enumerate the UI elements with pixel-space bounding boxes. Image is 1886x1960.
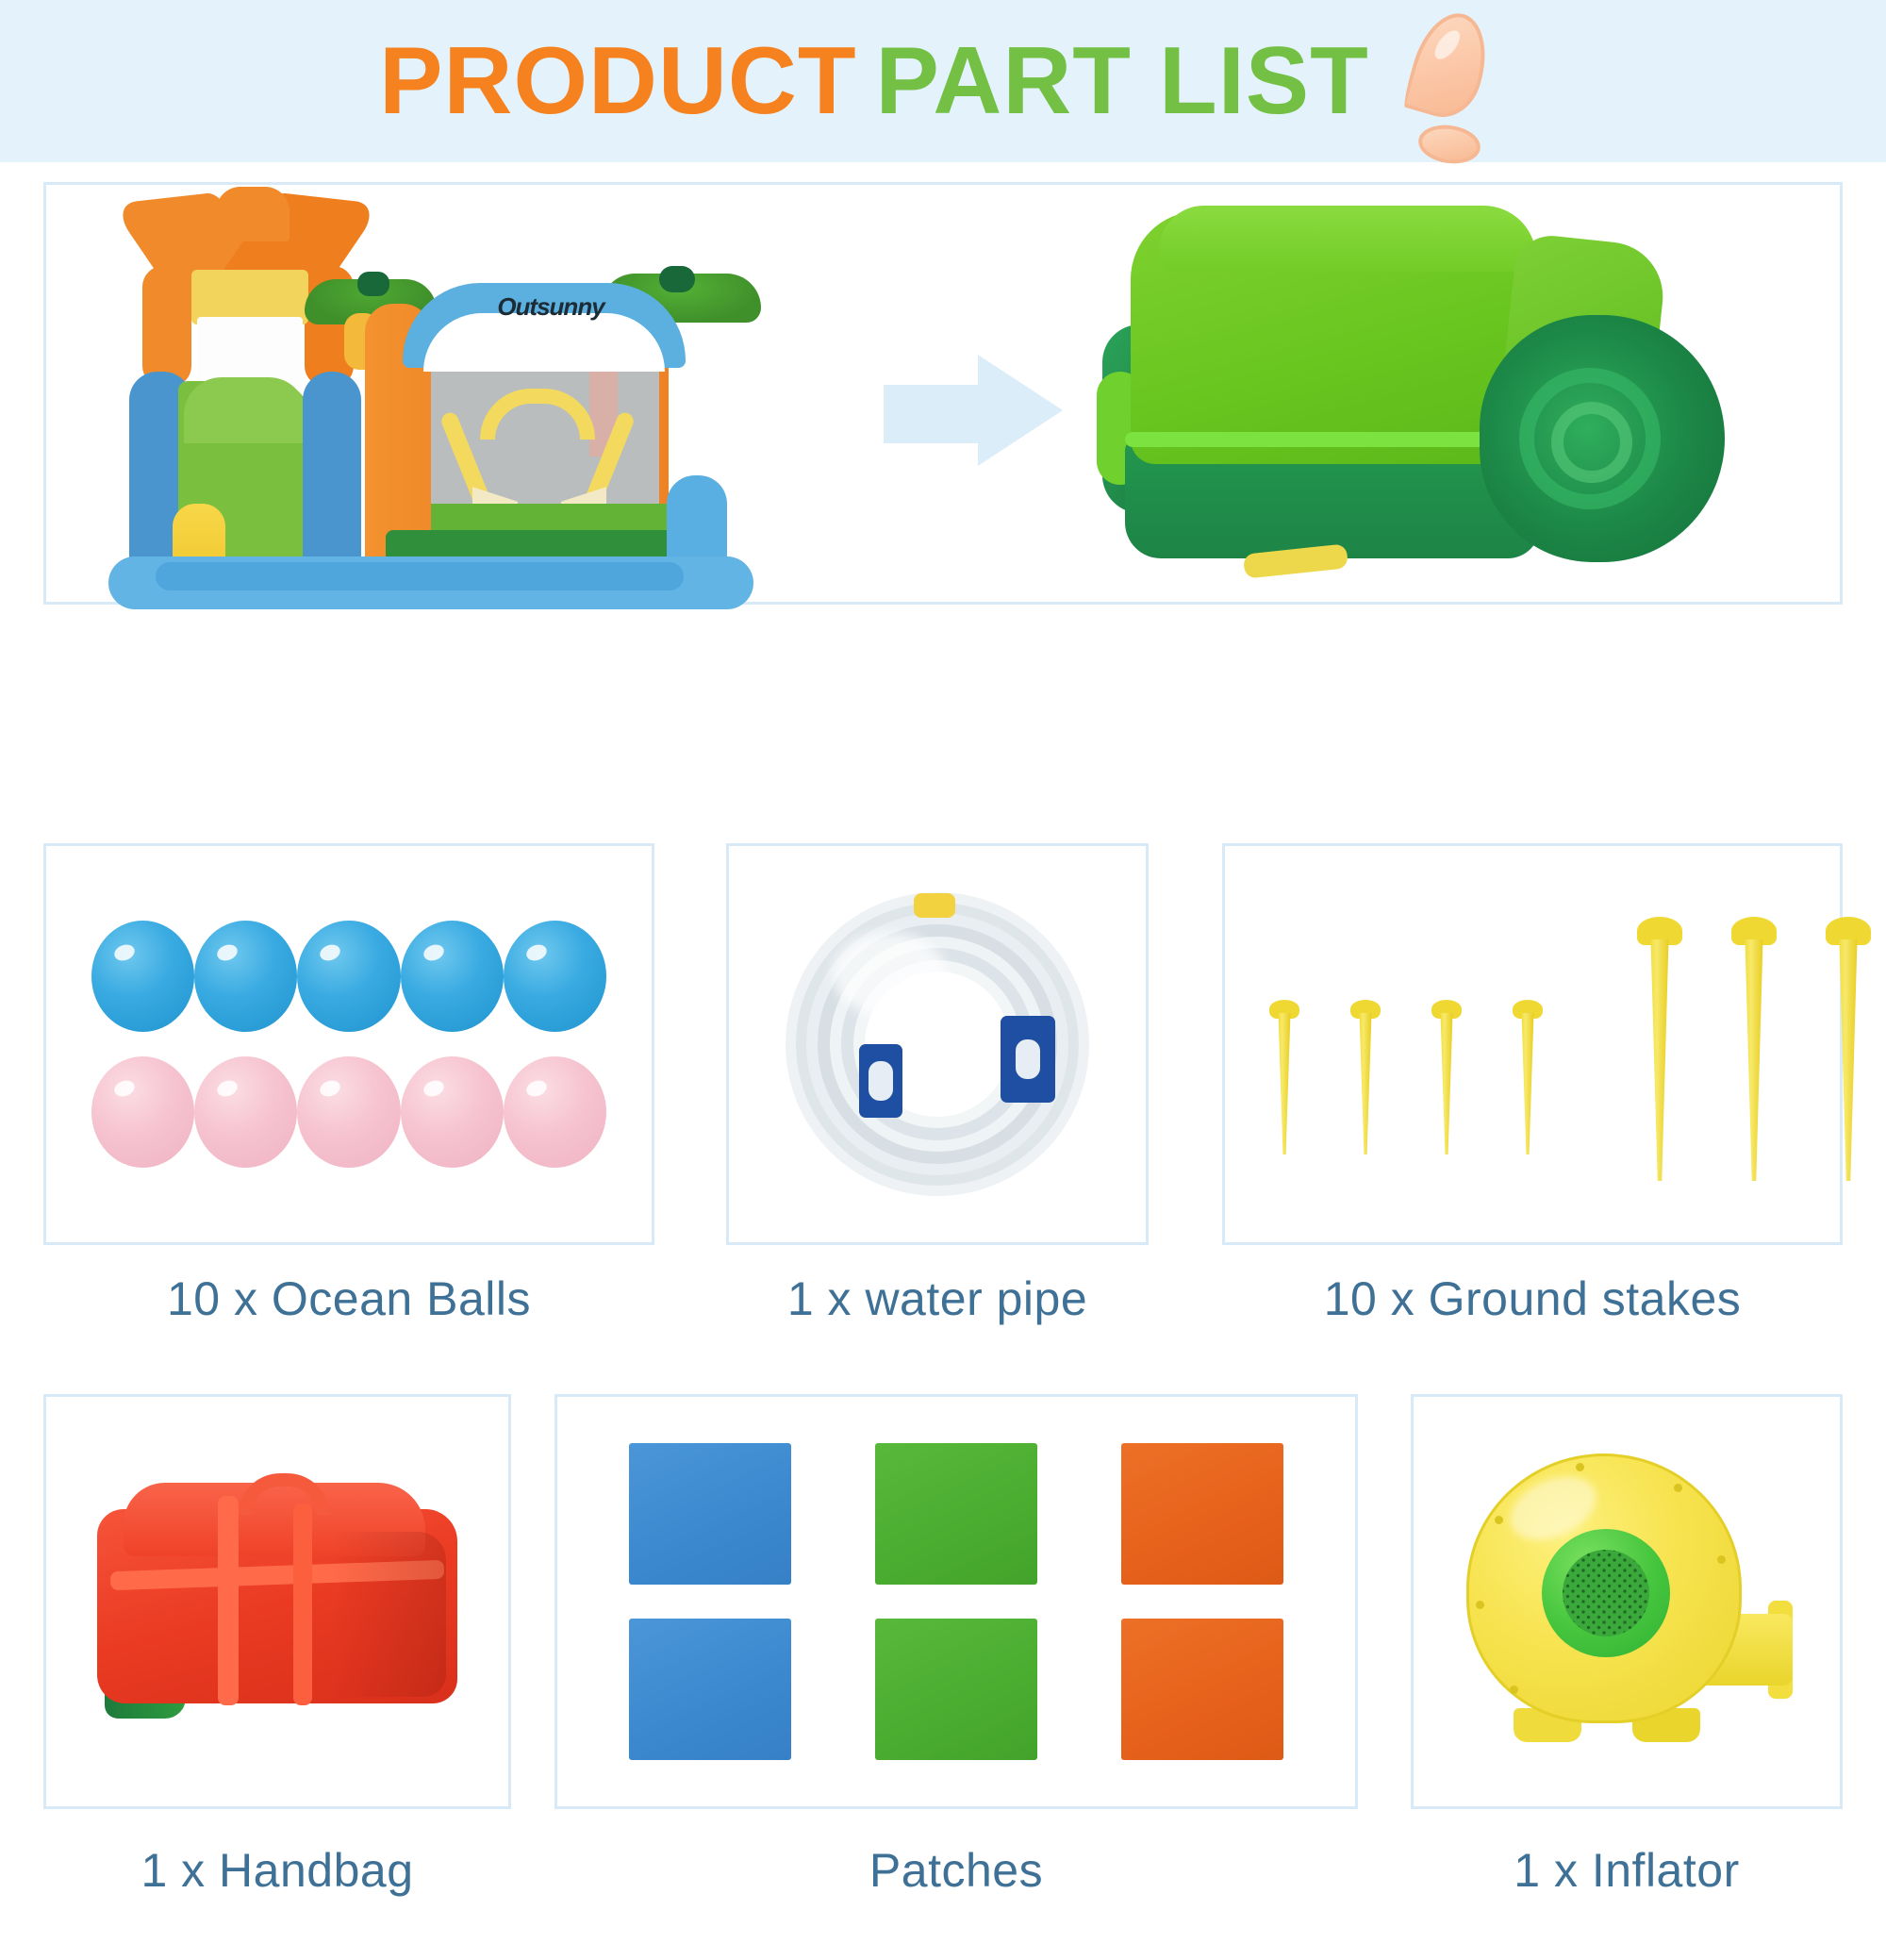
palm-tree-left-core [357, 272, 389, 296]
patch-swatch [629, 1619, 791, 1760]
patches-label: Patches [554, 1843, 1358, 1898]
stake-shaft [1745, 939, 1763, 1181]
handbag-panel [43, 1394, 511, 1809]
palm-tree-right-core [659, 266, 695, 292]
ground-stakes-image [1225, 846, 1840, 1242]
water-pipe-label: 1 x water pipe [726, 1271, 1149, 1326]
page-title: PRODUCTPART LIST [379, 34, 1369, 129]
patch-swatch [629, 1443, 791, 1585]
bag-top-cap [1159, 206, 1536, 272]
stake-shaft [1651, 939, 1669, 1181]
ground-stake-large [1813, 907, 1883, 1181]
product-part-list-page: PRODUCTPART LIST [0, 0, 1886, 1960]
ground-stake-small [1419, 992, 1474, 1154]
stake-shaft [1522, 1013, 1534, 1154]
patches-panel [554, 1394, 1358, 1809]
ground-stake-large [1719, 907, 1789, 1181]
bag-roll-spiral-inner [1551, 402, 1632, 483]
ocean-balls-image [46, 846, 652, 1242]
exclamation-mark-icon [1394, 1, 1507, 161]
inflator-label: 1 x Inflator [1411, 1843, 1843, 1898]
page-title-part-list: PART LIST [876, 28, 1369, 134]
patch-swatch [875, 1443, 1037, 1585]
pool-inner [156, 562, 684, 590]
ocean-ball [401, 1056, 504, 1168]
brand-logo: Outsunny [461, 291, 640, 323]
inflator-panel [1411, 1394, 1843, 1809]
ocean-ball [401, 921, 504, 1032]
blue-connector-clip [859, 1044, 902, 1118]
bounce-house-image: Outsunny [103, 192, 763, 600]
water-pipe-image [729, 846, 1146, 1242]
exclamation-dot [1415, 122, 1482, 168]
blue-connector-clip [1001, 1016, 1055, 1103]
hero-stage: Outsunny [46, 185, 1840, 602]
inflator-screw [1674, 1484, 1682, 1492]
right-arrow-icon [884, 355, 1063, 466]
exclamation-stroke [1401, 5, 1497, 125]
patches-image [557, 1397, 1355, 1806]
handbag-label: 1 x Handbag [43, 1843, 511, 1898]
inflator-image [1451, 1452, 1802, 1752]
ocean-ball [504, 921, 606, 1032]
ocean-balls-row-blue [91, 921, 606, 1032]
page-header: PRODUCTPART LIST [0, 0, 1886, 162]
handbag-image [97, 1475, 457, 1728]
page-title-product: PRODUCT [379, 28, 856, 134]
inflator-screw [1510, 1686, 1518, 1694]
patch-swatch [1121, 1443, 1283, 1585]
stake-shaft [1279, 1013, 1291, 1154]
ocean-ball [504, 1056, 606, 1168]
handbag-shading [333, 1532, 446, 1697]
ocean-ball [297, 921, 400, 1032]
yellow-clip-icon [914, 893, 955, 918]
ocean-balls-row-pink [91, 1056, 606, 1168]
ocean-balls-panel [43, 843, 654, 1245]
roof-peak [216, 187, 290, 241]
stake-shaft [1360, 1013, 1372, 1154]
inflator-screw [1717, 1555, 1726, 1564]
arrow-head [978, 355, 1063, 466]
inflator-screw [1576, 1463, 1584, 1471]
ocean-ball [194, 921, 297, 1032]
handbag-strap-vertical-2 [293, 1503, 312, 1705]
ocean-ball [297, 1056, 400, 1168]
patch-swatch [1121, 1619, 1283, 1760]
ground-stake-large [1625, 907, 1695, 1181]
water-pipe-panel [726, 843, 1149, 1245]
hero-panel: Outsunny [43, 182, 1843, 605]
handbag-handle [239, 1473, 329, 1515]
small-stakes-group [1257, 992, 1555, 1154]
ground-stake-small [1500, 992, 1555, 1154]
handbag-strap-vertical [218, 1496, 239, 1705]
patch-swatch [875, 1619, 1037, 1760]
arrow-shaft [884, 385, 989, 443]
ground-stakes-panel [1222, 843, 1843, 1245]
ocean-ball [91, 921, 194, 1032]
inflator-screw [1495, 1516, 1503, 1524]
ground-stake-small [1257, 992, 1312, 1154]
ground-stake-small [1338, 992, 1393, 1154]
packed-bag-image [1093, 202, 1753, 589]
stake-shaft [1840, 939, 1858, 1181]
large-stakes-group [1625, 907, 1886, 1181]
tower-post-left [142, 266, 191, 387]
inflator-screw [1476, 1601, 1484, 1609]
ocean-balls-label: 10 x Ocean Balls [43, 1271, 654, 1326]
ocean-ball [91, 1056, 194, 1168]
stake-shaft [1441, 1013, 1453, 1154]
slide-bed-top [184, 377, 306, 443]
ground-stakes-label: 10 x Ground stakes [1222, 1271, 1843, 1326]
ocean-ball [194, 1056, 297, 1168]
inflator-grille [1563, 1550, 1649, 1636]
